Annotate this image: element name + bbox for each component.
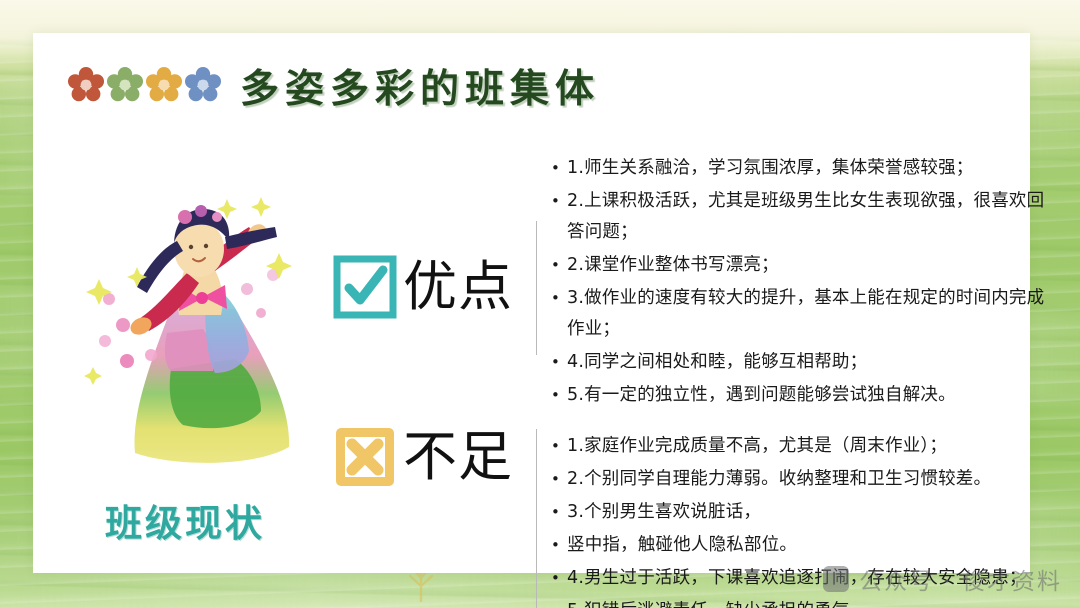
flower-yellow-icon — [146, 67, 182, 103]
list-item: 3.做作业的速度有较大的提升，基本上能在规定的时间内完成作业； — [551, 283, 1056, 345]
flower-green-icon — [107, 67, 143, 103]
slide-card: 多姿多彩的班集体 — [33, 33, 1030, 573]
divider-cons — [536, 429, 537, 608]
watermark-text: 公众号 · 俊才资料 — [859, 562, 1062, 596]
list-item: 2.个别同学自理能力薄弱。收纳整理和卫生习惯较差。 — [551, 464, 1056, 495]
list-item: 3.个别男生喜欢说脏话， — [551, 497, 1056, 528]
list-item: 4.同学之间相处和睦，能够互相帮助； — [551, 347, 1056, 378]
app-logo-icon — [823, 566, 849, 592]
title-row: 多姿多彩的班集体 — [33, 53, 1030, 123]
badge-pros: 优点 — [333, 255, 513, 319]
list-item: 竖中指，触碰他人隐私部位。 — [551, 530, 1056, 561]
checkbox-checked-icon — [333, 255, 397, 319]
list-item: 2.课堂作业整体书写漂亮； — [551, 250, 1056, 281]
page-title: 多姿多彩的班集体 — [240, 58, 600, 114]
divider-pros — [536, 221, 537, 355]
list-item: 1.家庭作业完成质量不高，尤其是（周末作业）； — [551, 431, 1056, 462]
badge-pros-label: 优点 — [403, 260, 513, 314]
badge-cons: 不足 — [333, 425, 513, 489]
girl-collage-illustration — [75, 191, 330, 476]
list-item: 1.师生关系融洽，学习氛围浓厚，集体荣誉感较强； — [551, 153, 1056, 184]
slide-canvas: 多姿多彩的班集体 — [0, 0, 1080, 608]
badge-cons-label: 不足 — [403, 430, 513, 484]
list-item: 2.上课积极活跃，尤其是班级男生比女生表现欲强，很喜欢回答问题； — [551, 186, 1056, 248]
list-item: 5.犯错后逃避责任，缺少承担的勇气。 — [551, 596, 1056, 608]
checkbox-x-icon — [333, 425, 397, 489]
watermark: 公众号 · 俊才资料 — [823, 562, 1062, 596]
flower-blue-icon — [185, 67, 221, 103]
status-label: 班级现状 — [105, 493, 265, 547]
flower-decoration-group — [68, 67, 221, 103]
bullet-list-pros: 1.师生关系融洽，学习氛围浓厚，集体荣誉感较强； 2.上课积极活跃，尤其是班级男… — [551, 153, 1056, 413]
flower-red-icon — [68, 67, 104, 103]
list-item: 5.有一定的独立性，遇到问题能够尝试独自解决。 — [551, 380, 1056, 411]
